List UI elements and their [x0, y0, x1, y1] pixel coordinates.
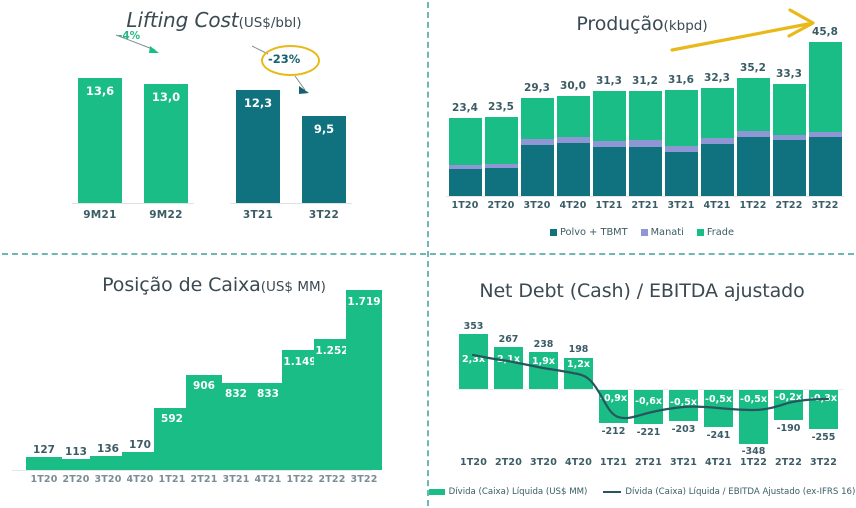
chart-posicao-de-caixa: Posição de Caixa(US$ MM) 127 1T20 113 2T…: [0, 254, 428, 508]
dashboard-page: Lifting Cost(US$/bbl) 13,6 13,0 12,3 9,5: [0, 0, 856, 508]
posicao-caixa-bar-4t20: [122, 452, 158, 470]
producao-plot: 23,4 1T20 23,5 2T20 29,3 3T20: [428, 0, 856, 254]
producao-legend-swatch-manati-icon: [641, 229, 648, 236]
producao-legend-swatch-polvo-icon: [550, 229, 557, 236]
lifting-cost-annotation-minus23: -23%: [268, 52, 300, 66]
producao-legend-item-frade: Frade: [697, 227, 734, 238]
net-debt-legend-item-ratio: Dívida (Caixa) Líquida / EBITDA Ajustado…: [603, 487, 855, 497]
producao-legend-label-frade: Frade: [707, 227, 734, 238]
net-debt-cat-4t20: 4T20: [559, 457, 598, 468]
producao-legend-label-polvo: Polvo + TBMT: [560, 227, 628, 238]
net-debt-legend-swatch-bar-icon: [429, 489, 445, 495]
net-debt-cat-3t20: 3T20: [524, 457, 563, 468]
posicao-caixa-cat-3t22: 3T22: [342, 474, 386, 485]
net-debt-cat-3t21: 3T21: [664, 457, 703, 468]
posicao-caixa-value-3t22: 1.719: [340, 296, 388, 308]
net-debt-legend-label-divida: Dívida (Caixa) Líquida (US$ MM): [449, 487, 588, 497]
net-debt-legend-swatch-line-icon: [603, 491, 621, 494]
net-debt-ratio-line: [428, 254, 856, 508]
producao-legend-label-manati: Manati: [651, 227, 684, 238]
posicao-caixa-plot: 127 1T20 113 2T20 136 3T20 170 4T20 592 …: [0, 254, 428, 508]
net-debt-cat-1t22: 1T22: [734, 457, 773, 468]
net-debt-legend-label-ratio: Dívida (Caixa) Líquida / EBITDA Ajustado…: [625, 487, 855, 497]
posicao-caixa-bar-3t22: [346, 290, 382, 470]
producao-growth-arrow-icon: [428, 0, 856, 254]
chart-lifting-cost: Lifting Cost(US$/bbl) 13,6 13,0 12,3 9,5: [0, 0, 428, 254]
net-debt-legend: Dívida (Caixa) Líquida (US$ MM) Dívida (…: [428, 487, 856, 497]
posicao-caixa-bar-2t20: [58, 459, 94, 470]
producao-legend: Polvo + TBMT Manati Frade: [428, 227, 856, 238]
net-debt-cat-2t21: 2T21: [629, 457, 668, 468]
net-debt-plot: 2,3x 353 2,1x 267 1,9x 238 1,2x 198 -0,9…: [428, 254, 856, 508]
posicao-caixa-bar-1t22: [282, 350, 318, 470]
chart-producao: Produção(kbpd) 23,4 1T20 23,5 2T20: [428, 0, 856, 254]
net-debt-cat-1t20: 1T20: [454, 457, 493, 468]
producao-legend-swatch-frade-icon: [697, 229, 704, 236]
net-debt-cat-4t21: 4T21: [699, 457, 738, 468]
net-debt-cat-3t22: 3T22: [804, 457, 843, 468]
posicao-caixa-axis: [12, 470, 372, 471]
net-debt-cat-2t22: 2T22: [769, 457, 808, 468]
producao-legend-item-polvo: Polvo + TBMT: [550, 227, 628, 238]
lifting-cost-arrow-right: [0, 0, 428, 254]
net-debt-legend-item-divida: Dívida (Caixa) Líquida (US$ MM): [429, 487, 588, 497]
producao-legend-item-manati: Manati: [641, 227, 684, 238]
net-debt-cat-2t20: 2T20: [489, 457, 528, 468]
net-debt-cat-1t21: 1T21: [594, 457, 633, 468]
posicao-caixa-bar-2t22: [314, 339, 350, 470]
chart-net-debt: Net Debt (Cash) / EBITDA ajustado 2,3x 3…: [428, 254, 856, 508]
posicao-caixa-bar-1t20: [26, 457, 62, 470]
posicao-caixa-bar-3t20: [90, 456, 126, 470]
